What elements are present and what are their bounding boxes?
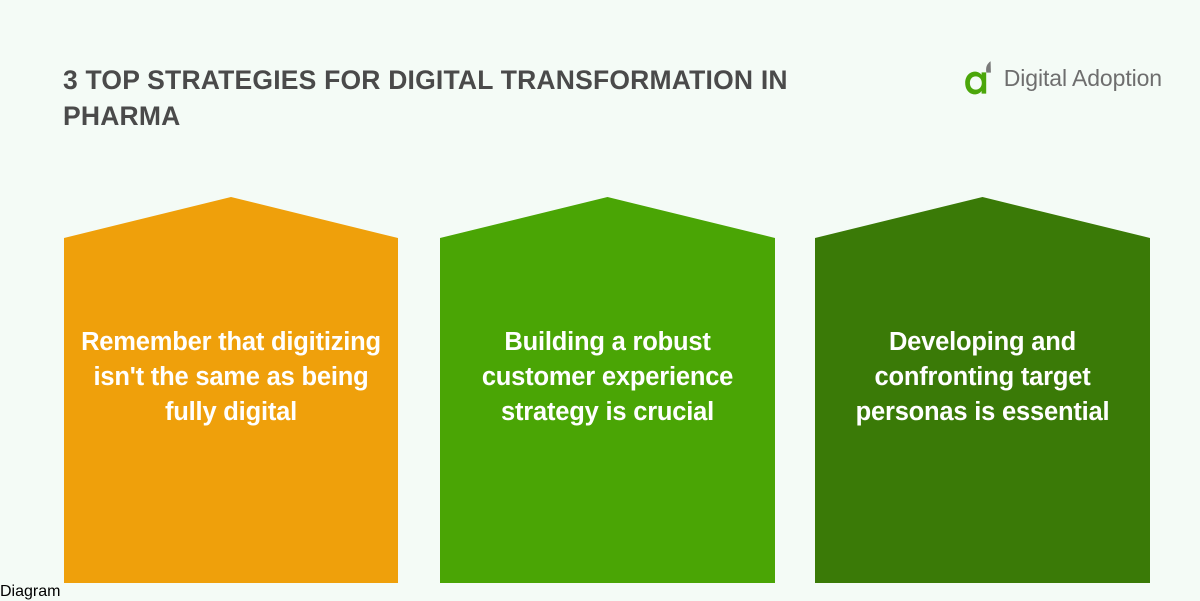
strategy-card-2: Building a robust customer experience st… [440,197,775,583]
strategy-card-1: Remember that digitizing isn't the same … [64,197,398,583]
strategy-card-3: Developing and confronting target person… [815,197,1150,583]
strategy-cards: Remember that digitizing isn't the same … [0,0,1200,583]
strategy-card-1-text: Remember that digitizing isn't the same … [64,325,398,430]
strategy-card-2-text: Building a robust customer experience st… [440,325,775,430]
infographic-canvas: 3 Top Strategies For Digital Transformat… [0,0,1200,583]
strategy-card-3-text: Developing and confronting target person… [815,325,1150,430]
